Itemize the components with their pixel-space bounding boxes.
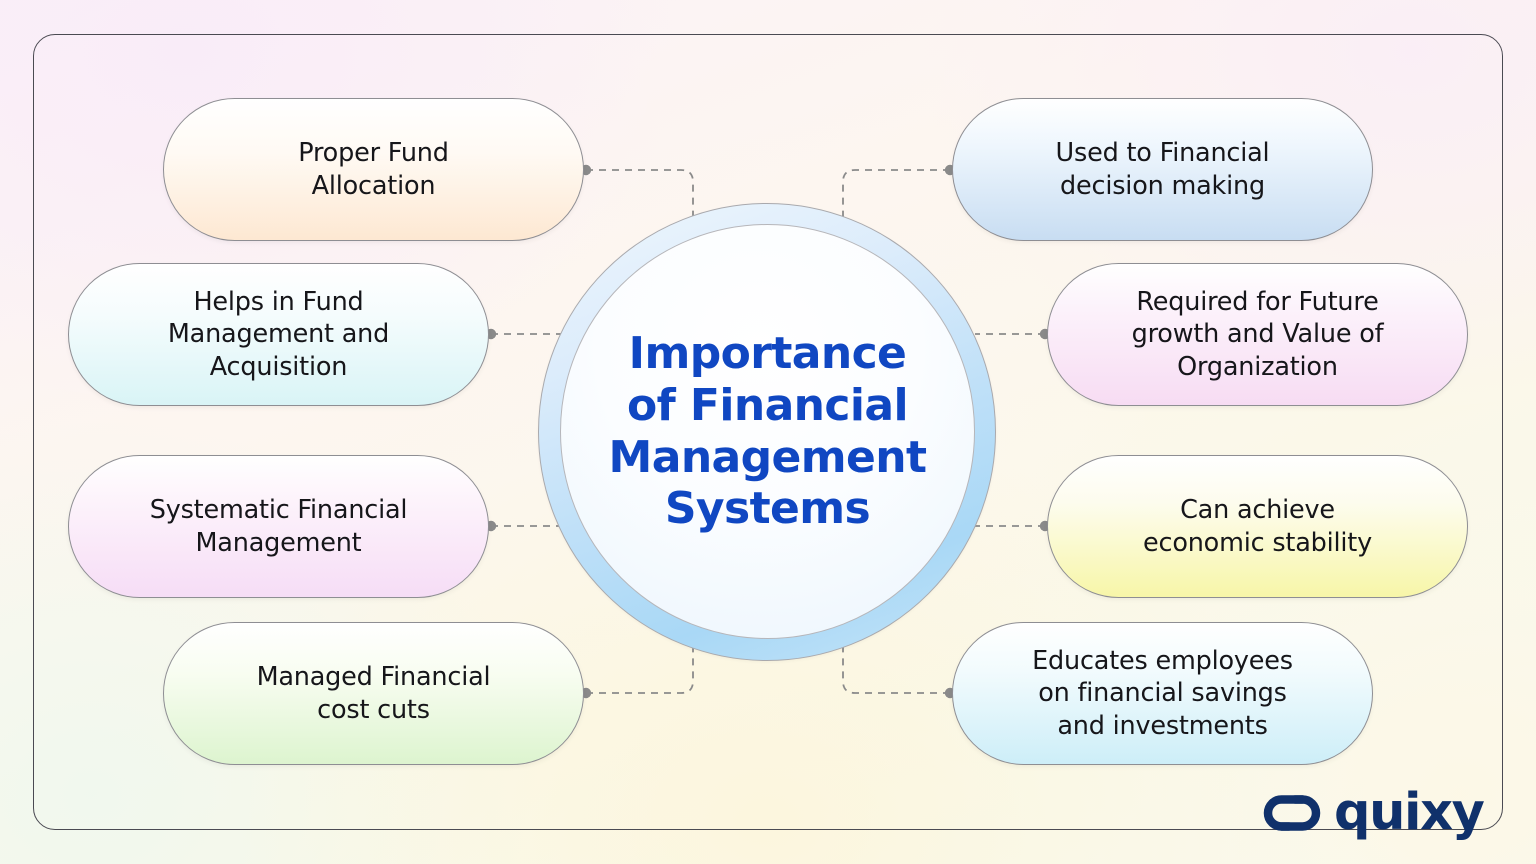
node-label: Helps in Fund Management and Acquisition	[168, 286, 389, 384]
node-educates-employees[interactable]: Educates employees on financial savings …	[952, 622, 1373, 765]
center-circle: Importance of Financial Management Syste…	[560, 224, 975, 639]
node-label: Required for Future growth and Value of …	[1132, 286, 1384, 384]
node-helps-in-fund-management[interactable]: Helps in Fund Management and Acquisition	[68, 263, 489, 406]
node-managed-financial-cost-cuts[interactable]: Managed Financial cost cuts	[163, 622, 584, 765]
brand-name: quixy	[1334, 787, 1483, 838]
node-systematic-financial-management[interactable]: Systematic Financial Management	[68, 455, 489, 598]
center-title: Importance of Financial Management Syste…	[587, 328, 949, 536]
node-label: Can achieve economic stability	[1143, 494, 1372, 559]
infinity-loop-icon	[1262, 791, 1322, 835]
node-financial-decision-making[interactable]: Used to Financial decision making	[952, 98, 1373, 241]
node-label: Managed Financial cost cuts	[257, 661, 491, 726]
node-proper-fund-allocation[interactable]: Proper Fund Allocation	[163, 98, 584, 241]
node-label: Systematic Financial Management	[150, 494, 408, 559]
node-label: Used to Financial decision making	[1056, 137, 1270, 202]
infographic-canvas: Importance of Financial Management Syste…	[0, 0, 1536, 864]
node-label: Proper Fund Allocation	[298, 137, 449, 202]
node-label: Educates employees on financial savings …	[1032, 645, 1293, 743]
node-economic-stability[interactable]: Can achieve economic stability	[1047, 455, 1468, 598]
node-future-growth-and-value[interactable]: Required for Future growth and Value of …	[1047, 263, 1468, 406]
brand-logo[interactable]: quixy	[1262, 787, 1483, 838]
